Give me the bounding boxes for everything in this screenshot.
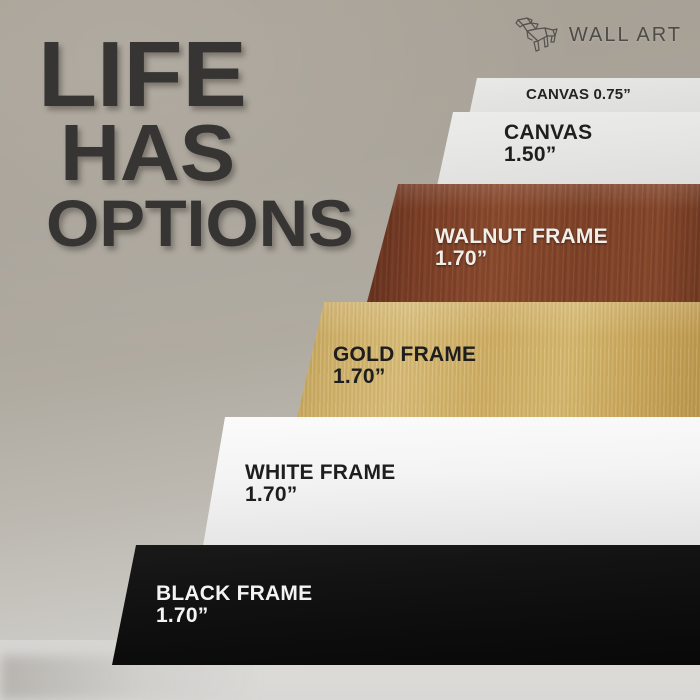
option-walnut-frame[interactable]: WALNUT FRAME 1.70” (367, 184, 700, 302)
white-frame-depth: 1.70” (245, 484, 395, 506)
canvas-075-title: CANVAS 0.75” (526, 87, 631, 103)
walnut-frame-label: WALNUT FRAME 1.70” (435, 226, 608, 270)
option-white-frame[interactable]: WHITE FRAME 1.70” (203, 417, 700, 546)
option-gold-frame[interactable]: GOLD FRAME 1.70” (297, 302, 700, 418)
white-frame-title: WHITE FRAME (245, 462, 395, 484)
canvas-150-label: CANVAS 1.50” (504, 122, 592, 166)
canvas-075-label: CANVAS 0.75” (526, 87, 631, 103)
canvas-150-depth: 1.50” (504, 144, 592, 166)
gold-frame-title: GOLD FRAME (333, 344, 476, 366)
walnut-frame-title: WALNUT FRAME (435, 226, 608, 248)
option-canvas-150[interactable]: CANVAS 1.50” (437, 112, 700, 186)
page-title: LIFE HAS OPTIONS (38, 36, 342, 250)
origami-goat-icon (514, 16, 560, 54)
gold-frame-label: GOLD FRAME 1.70” (333, 344, 476, 388)
black-frame-title: BLACK FRAME (156, 583, 312, 605)
black-frame-label: BLACK FRAME 1.70” (156, 583, 312, 627)
product-options-poster: LIFE HAS OPTIONS WALL ART (0, 0, 700, 700)
brand-name: WALL ART (569, 24, 682, 47)
brand-logo: WALL ART (514, 16, 682, 54)
option-black-frame[interactable]: BLACK FRAME 1.70” (112, 545, 700, 665)
gold-frame-depth: 1.70” (333, 366, 476, 388)
white-frame-label: WHITE FRAME 1.70” (245, 462, 395, 506)
headline-line-1: LIFE (38, 36, 354, 112)
canvas-150-title: CANVAS (504, 122, 592, 144)
headline-line-3: OPTIONS (46, 196, 354, 250)
black-frame-depth: 1.70” (156, 605, 312, 627)
headline-line-2: HAS (60, 120, 353, 186)
walnut-frame-depth: 1.70” (435, 248, 608, 270)
